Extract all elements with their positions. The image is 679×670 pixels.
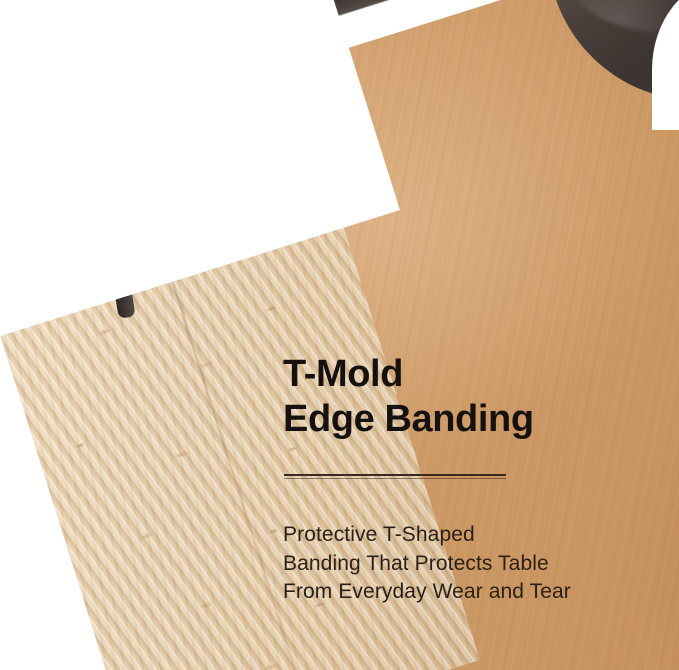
marketing-text-overlay: T-Mold Edge Banding Protective T-Shaped … — [283, 352, 643, 607]
description-line-1: Protective T-Shaped — [283, 521, 643, 550]
description-line-3: From Everyday Wear and Tear — [283, 578, 643, 607]
description-line-2: Banding That Protects Table — [283, 550, 643, 579]
headline-line-2: Edge Banding — [283, 398, 534, 440]
product-description: Protective T-Shaped Banding That Protect… — [283, 521, 643, 607]
product-headline: T-Mold Edge Banding — [283, 352, 643, 442]
divider-rule — [284, 474, 506, 479]
headline-line-1: T-Mold — [283, 353, 403, 395]
product-image: T-Mold Edge Banding Protective T-Shaped … — [0, 0, 679, 670]
